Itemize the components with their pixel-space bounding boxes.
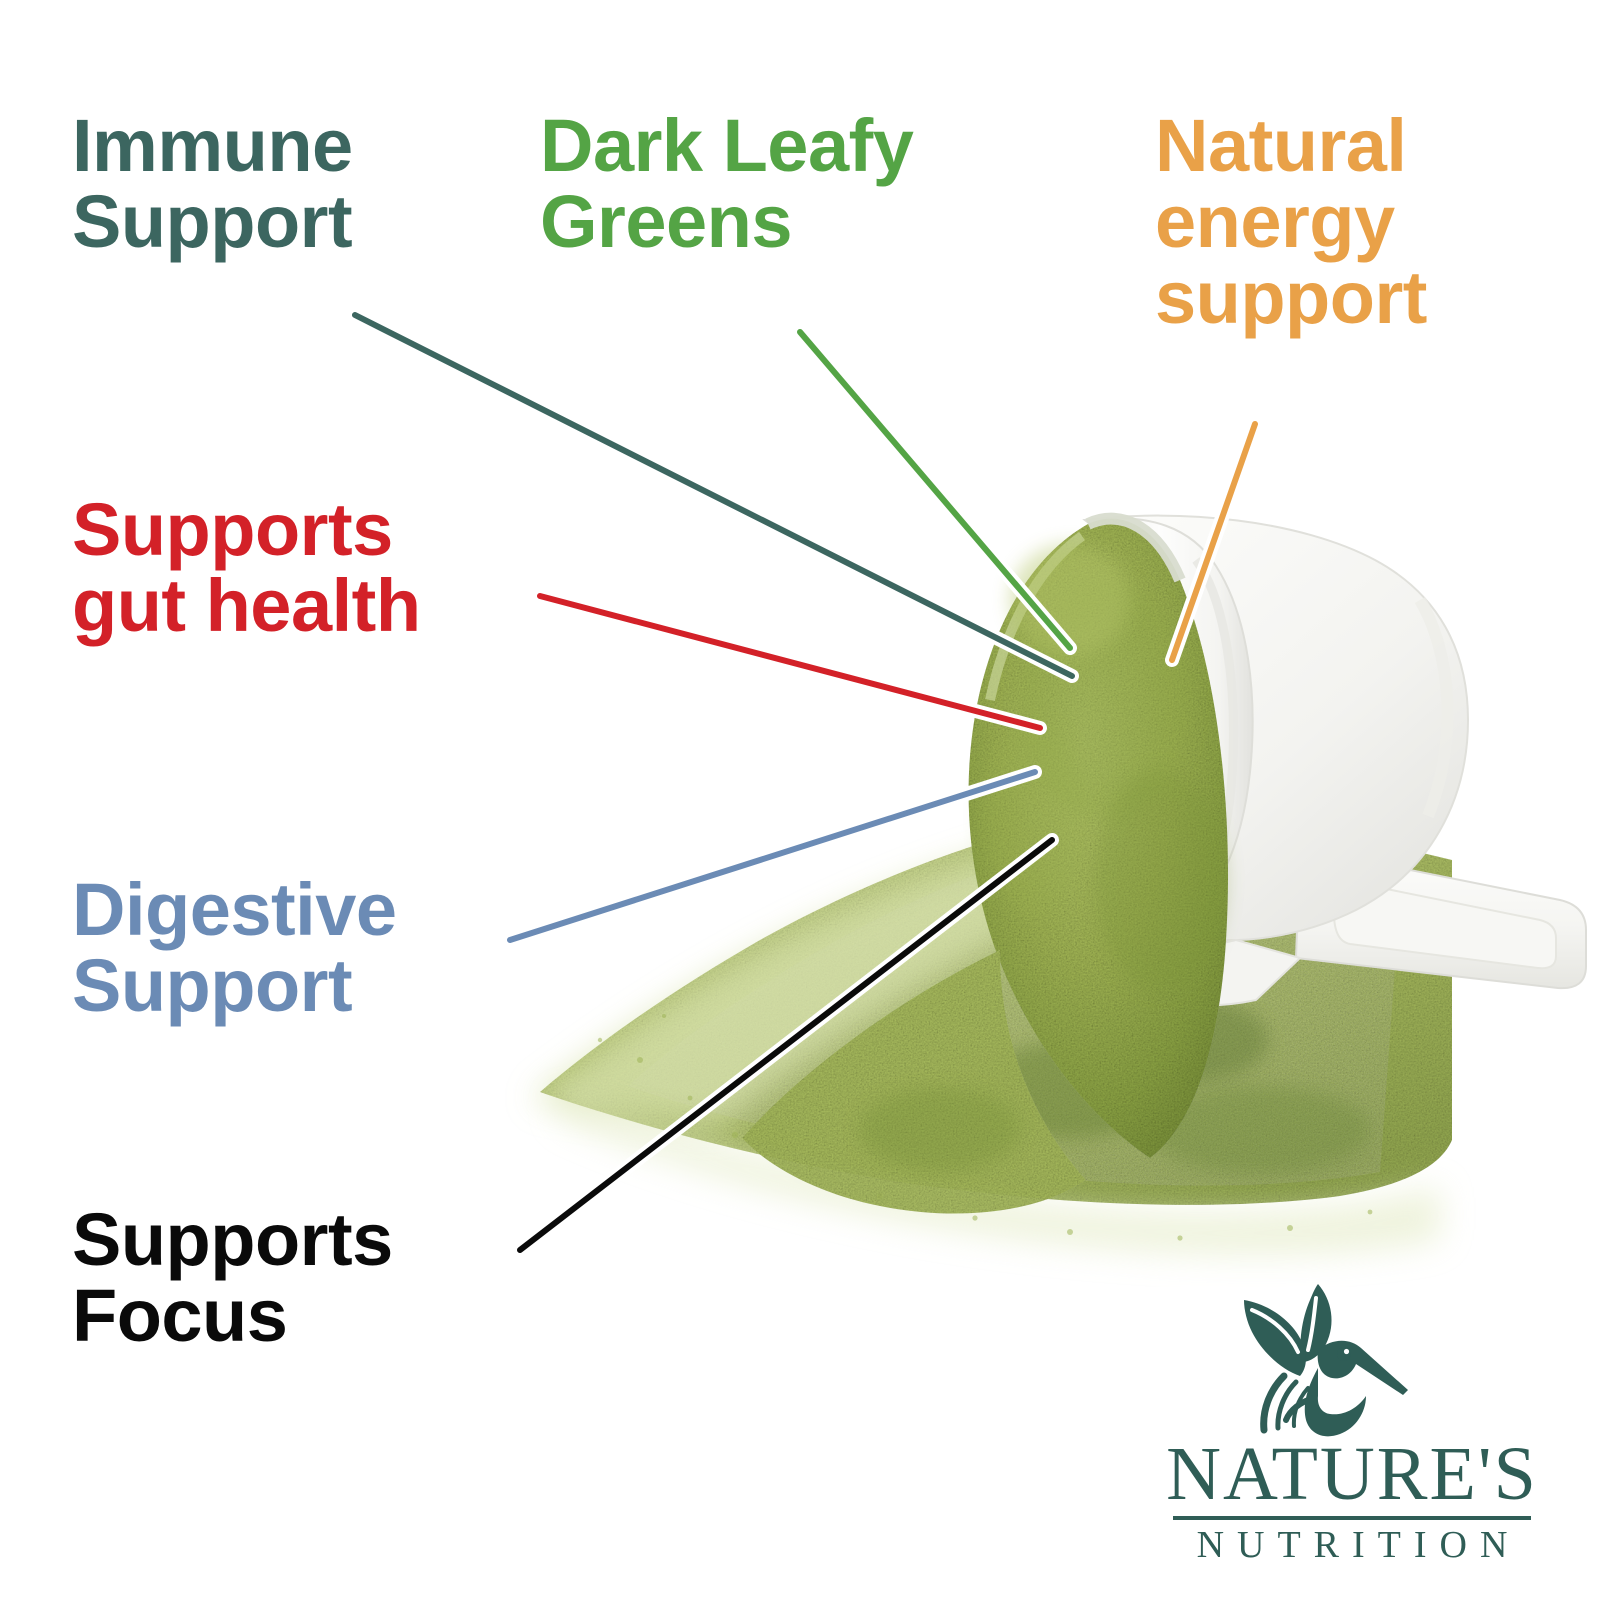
callout-digestive-support: Digestive Support bbox=[72, 872, 397, 1024]
leader-lines bbox=[355, 315, 1255, 1250]
leader-line-dark-leafy-greens bbox=[800, 332, 1070, 648]
leader-line-digestive-support bbox=[510, 772, 1035, 940]
callout-dark-leafy-greens: Dark Leafy Greens bbox=[540, 108, 913, 260]
powder-pile bbox=[530, 800, 1452, 1254]
callout-natural-energy-support: Natural energy support bbox=[1155, 108, 1427, 337]
measuring-scoop bbox=[1085, 516, 1586, 1006]
brand-logo: NATURE'S NUTRITION bbox=[1152, 1278, 1552, 1578]
callout-immune-support: Immune Support bbox=[72, 108, 353, 260]
infographic-canvas: Immune Support Dark Leafy Greens Natural… bbox=[0, 0, 1600, 1600]
callout-supports-gut-health: Supports gut health bbox=[72, 492, 421, 644]
leader-line-natural-energy bbox=[1172, 424, 1255, 660]
hummingbird-with-leaves-icon bbox=[1222, 1278, 1412, 1443]
logo-divider-rule bbox=[1173, 1516, 1531, 1520]
leader-line-immune-support bbox=[355, 315, 1072, 676]
leader-line-supports-focus bbox=[520, 840, 1052, 1250]
leader-line-gut-health bbox=[540, 596, 1040, 728]
callout-supports-focus: Supports Focus bbox=[72, 1202, 393, 1354]
powder-mound bbox=[742, 519, 1228, 1214]
logo-wordmark: NATURE'S NUTRITION bbox=[1152, 1436, 1552, 1564]
logo-brand-subtitle: NUTRITION bbox=[1152, 1526, 1552, 1564]
logo-brand-name: NATURE'S bbox=[1152, 1436, 1552, 1512]
